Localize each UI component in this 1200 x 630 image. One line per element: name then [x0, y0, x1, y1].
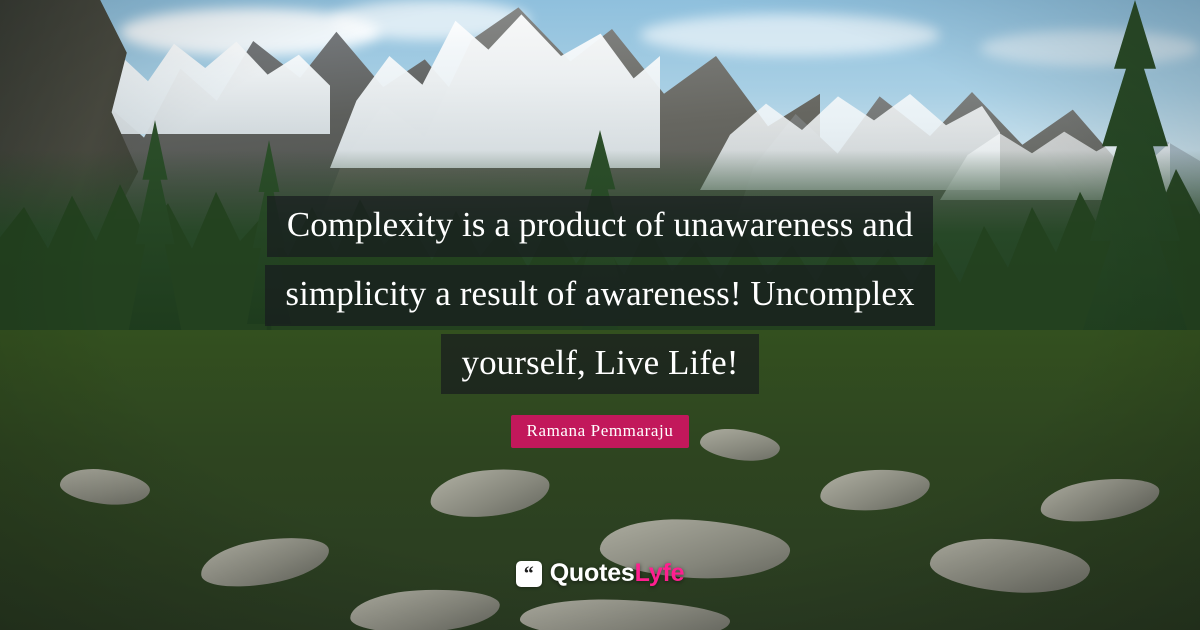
quote-mark-icon: “ [516, 561, 542, 587]
brand-logo: “ QuotesLyfe [0, 559, 1200, 588]
quote-author: Ramana Pemmaraju [511, 415, 690, 448]
quote-card: Complexity is a product of unawareness a… [0, 0, 1200, 630]
quote-author-container: Ramana Pemmaraju [0, 415, 1200, 448]
brand-name-quotes: Quotes [550, 559, 635, 587]
quote-line-2: simplicity a result of awareness! Uncomp… [265, 265, 934, 326]
quote-line-1: Complexity is a product of unawareness a… [267, 196, 933, 257]
quote-text: Complexity is a product of unawareness a… [0, 196, 1200, 394]
quote-line-3: yourself, Live Life! [441, 334, 758, 395]
brand-name: QuotesLyfe [550, 559, 685, 588]
brand-name-lyfe: Lyfe [635, 559, 685, 587]
